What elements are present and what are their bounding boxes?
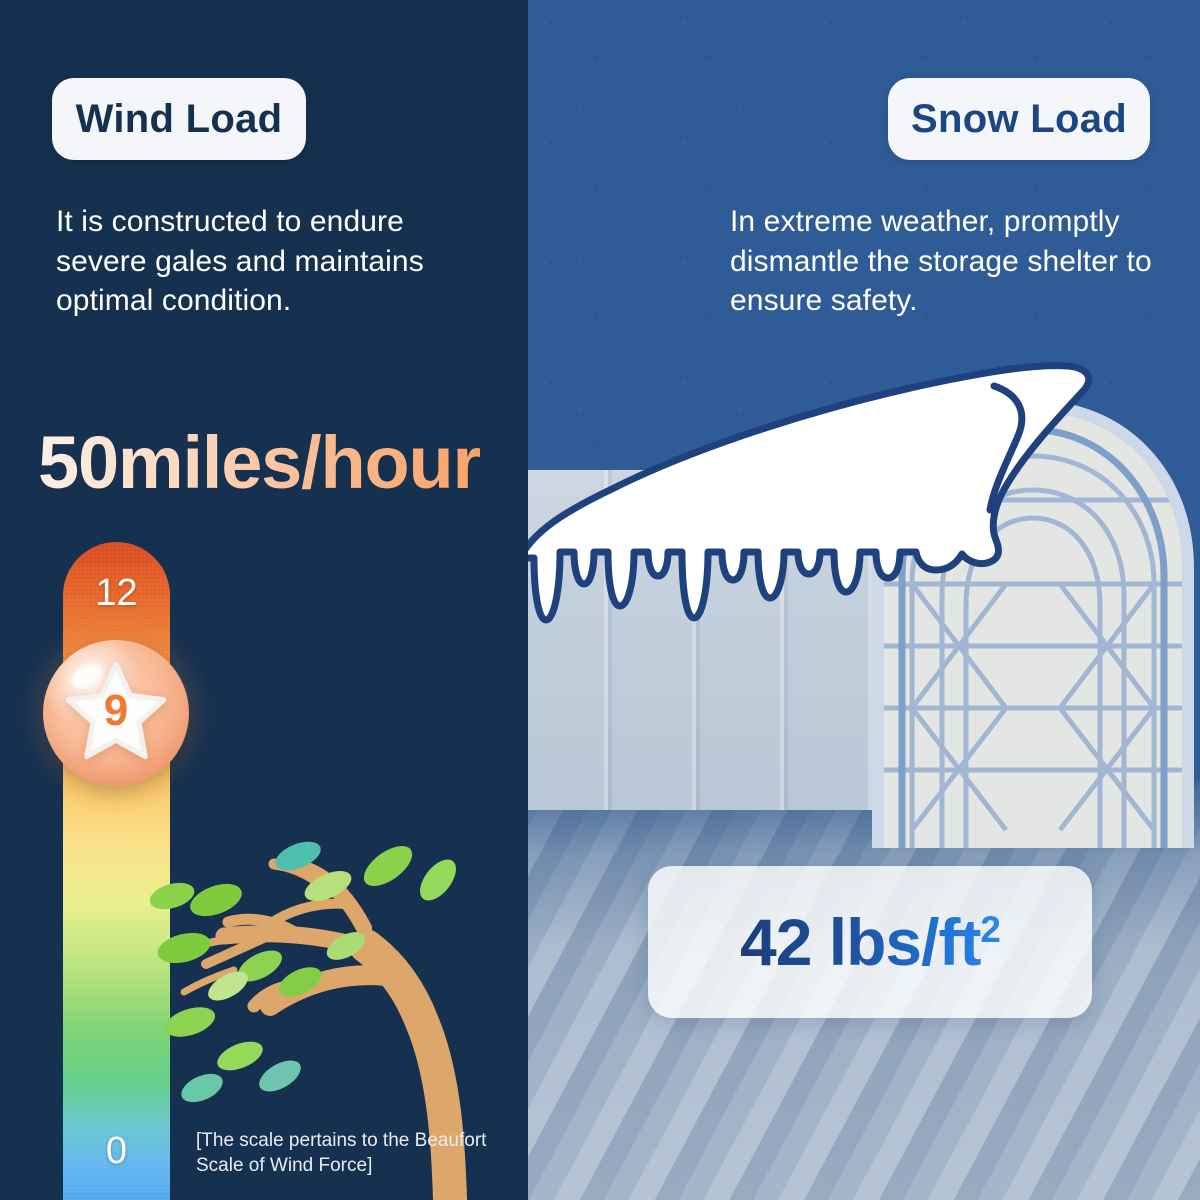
snow-load-value: 42 lbs/ft2	[740, 904, 1000, 980]
wind-speed-value: 50miles/hour	[38, 420, 480, 505]
beaufort-max-label: 12	[63, 572, 170, 615]
snow-load-description: In extreme weather, promptly dismantle t…	[730, 202, 1160, 321]
wind-load-title-pill: Wind Load	[52, 78, 306, 160]
snow-load-title-text: Snow Load	[911, 97, 1127, 142]
wind-load-panel: Wind Load It is constructed to endure se…	[0, 0, 528, 1200]
wind-load-description: It is constructed to endure severe gales…	[56, 202, 476, 321]
snow-load-value-exponent: 2	[980, 909, 1000, 950]
infographic-canvas: Wind Load It is constructed to endure se…	[0, 0, 1200, 1200]
snow-drift-overlay	[528, 360, 1200, 660]
beaufort-scale-note: [The scale pertains to the Beaufort Scal…	[196, 1128, 496, 1179]
snow-load-value-card: 42 lbs/ft2	[648, 866, 1092, 1018]
snow-shelter-scene	[528, 0, 1200, 1200]
snow-load-title-pill: Snow Load	[888, 78, 1150, 160]
beaufort-current-value: 9	[43, 686, 189, 736]
wind-load-title-text: Wind Load	[76, 97, 283, 142]
snow-load-value-text: 42 lbs/ft	[740, 905, 980, 979]
snow-load-panel: Snow Load In extreme weather, promptly d…	[528, 0, 1200, 1200]
